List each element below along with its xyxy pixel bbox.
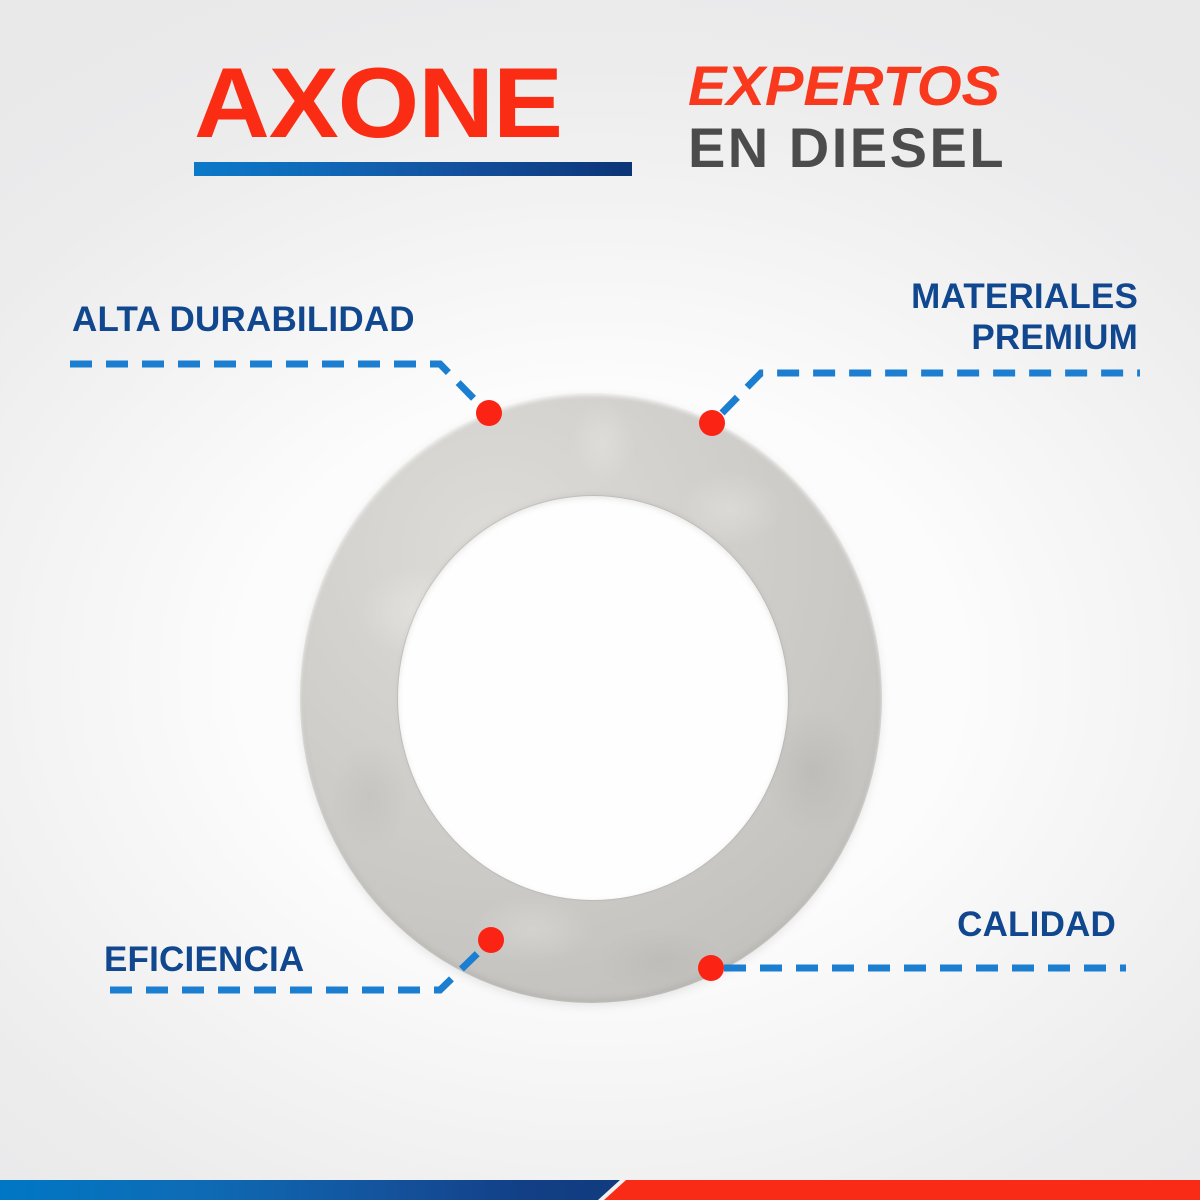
footer-banner-red-segment <box>604 1180 1200 1200</box>
tagline-en-diesel: EN DIESEL <box>688 118 1006 177</box>
footer-banner <box>0 1180 1200 1200</box>
callout-label-calidad: CALIDAD <box>957 905 1116 946</box>
brand-logo: AXONE <box>194 52 632 176</box>
ring-inner-hole <box>398 496 788 900</box>
product-gasket-ring <box>300 393 882 1003</box>
brand-wordmark: AXONE <box>194 54 658 151</box>
poster-canvas: AXONE EXPERTOS EN DIESEL ALTA DURABILIDA… <box>0 0 1200 1200</box>
callout-label-alta-durabilidad: ALTA DURABILIDAD <box>72 300 415 341</box>
footer-banner-blue-segment <box>0 1180 620 1200</box>
brand-tagline: EXPERTOS EN DIESEL <box>688 52 1006 177</box>
callout-label-eficiencia: EFICIENCIA <box>104 940 304 981</box>
tagline-expertos: EXPERTOS <box>688 58 1000 114</box>
brand-header: AXONE EXPERTOS EN DIESEL <box>0 52 1200 192</box>
callout-label-materiales-premium: MATERIALES PREMIUM <box>911 277 1138 359</box>
brand-underline-bar <box>194 162 632 176</box>
